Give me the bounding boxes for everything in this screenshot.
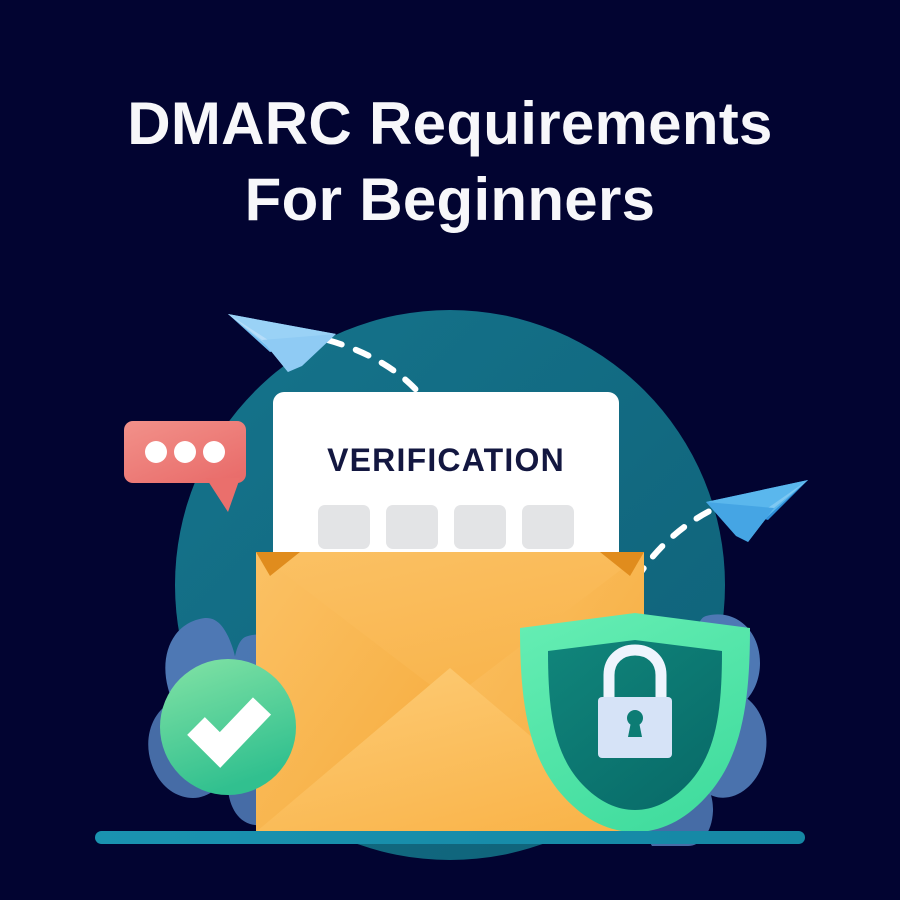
page-title-line-2: For Beginners [0, 162, 900, 238]
poster-canvas: VERIFICATION DMARC Requirements For Begi… [0, 0, 900, 900]
paper-plane-icon-right [706, 480, 808, 542]
check-badge [160, 659, 296, 795]
base-bar [95, 831, 805, 844]
page-title-line-1: DMARC Requirements [0, 86, 900, 162]
chat-bubble-icon [124, 421, 246, 512]
page-title: DMARC Requirements For Beginners [0, 86, 900, 238]
